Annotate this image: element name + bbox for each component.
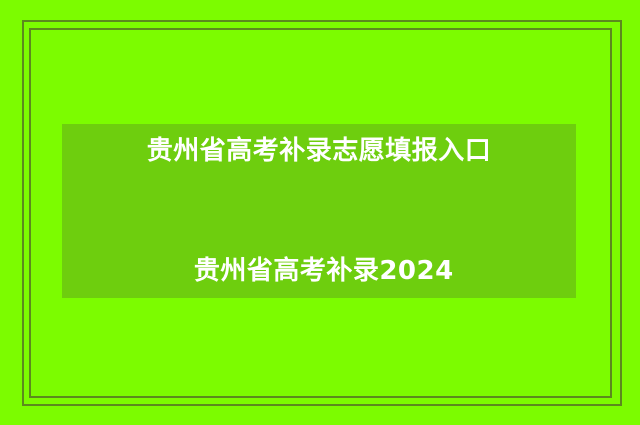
headline-text: 贵州省高考补录志愿填报入口 贵州省高考补录2024 [147, 51, 492, 371]
image-canvas: 贵州省高考补录志愿填报入口 贵州省高考补录2024 [0, 0, 640, 425]
headline-panel: 贵州省高考补录志愿填报入口 贵州省高考补录2024 [62, 124, 576, 298]
headline-line-2: 贵州省高考补录2024 [147, 251, 492, 291]
headline-line-1: 贵州省高考补录志愿填报入口 [147, 131, 492, 171]
